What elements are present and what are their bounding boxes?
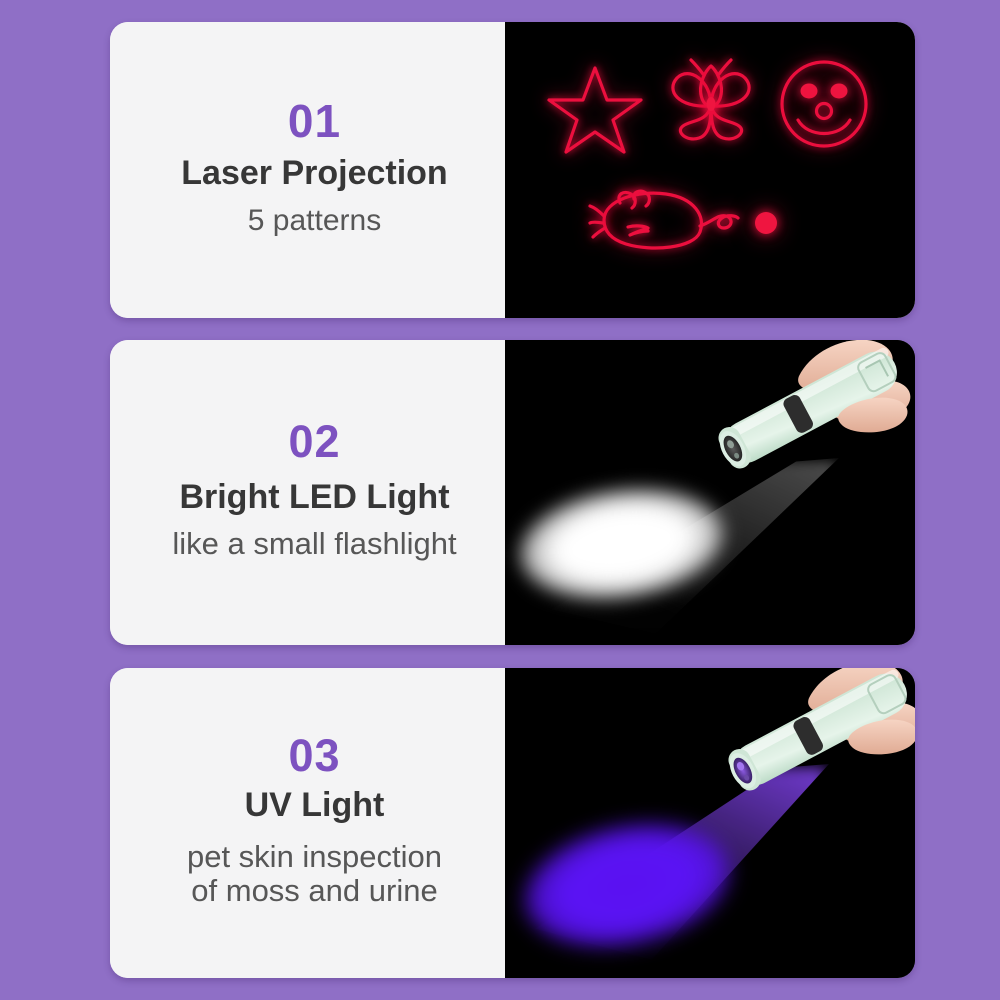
flashlight-scene (505, 340, 915, 645)
laser-pattern-media (505, 22, 915, 318)
card-text-panel: 03 UV Light pet skin inspection of moss … (110, 668, 505, 978)
card-text-panel: 02 Bright LED Light like a small flashli… (110, 340, 505, 645)
card-text-panel: 01 Laser Projection 5 patterns (110, 22, 505, 318)
feature-card-uv-light[interactable]: 03 UV Light pet skin inspection of moss … (110, 668, 915, 978)
card-number: 03 (288, 733, 340, 778)
uv-light-media (505, 668, 915, 978)
smiley-pattern-icon (778, 58, 870, 150)
card-subtitle-line-1: pet skin inspection (187, 840, 442, 875)
feature-card-laser-projection[interactable]: 01 Laser Projection 5 patterns (110, 22, 915, 318)
card-subtitle: 5 patterns (248, 204, 381, 238)
card-subtitle: pet skin inspection of moss and urine (187, 840, 442, 909)
laser-pattern-grid (505, 22, 915, 318)
card-title: UV Light (245, 788, 385, 824)
mouse-pattern-icon (590, 190, 738, 252)
feature-cards-page: 01 Laser Projection 5 patterns (0, 0, 1000, 1000)
card-title: Bright LED Light (179, 480, 449, 516)
dot-pattern-icon (750, 207, 782, 239)
uv-scene (505, 668, 915, 978)
card-subtitle: like a small flashlight (172, 527, 456, 562)
star-pattern-icon (547, 62, 643, 154)
card-number: 02 (288, 419, 340, 464)
butterfly-pattern-icon (665, 60, 757, 146)
laser-pen-device (691, 340, 915, 486)
laser-pen-device (701, 668, 915, 808)
feature-card-led-light[interactable]: 02 Bright LED Light like a small flashli… (110, 340, 915, 645)
card-subtitle-line-2: of moss and urine (187, 874, 442, 909)
led-light-media (505, 340, 915, 645)
card-number: 01 (288, 98, 341, 144)
card-title: Laser Projection (181, 156, 447, 192)
